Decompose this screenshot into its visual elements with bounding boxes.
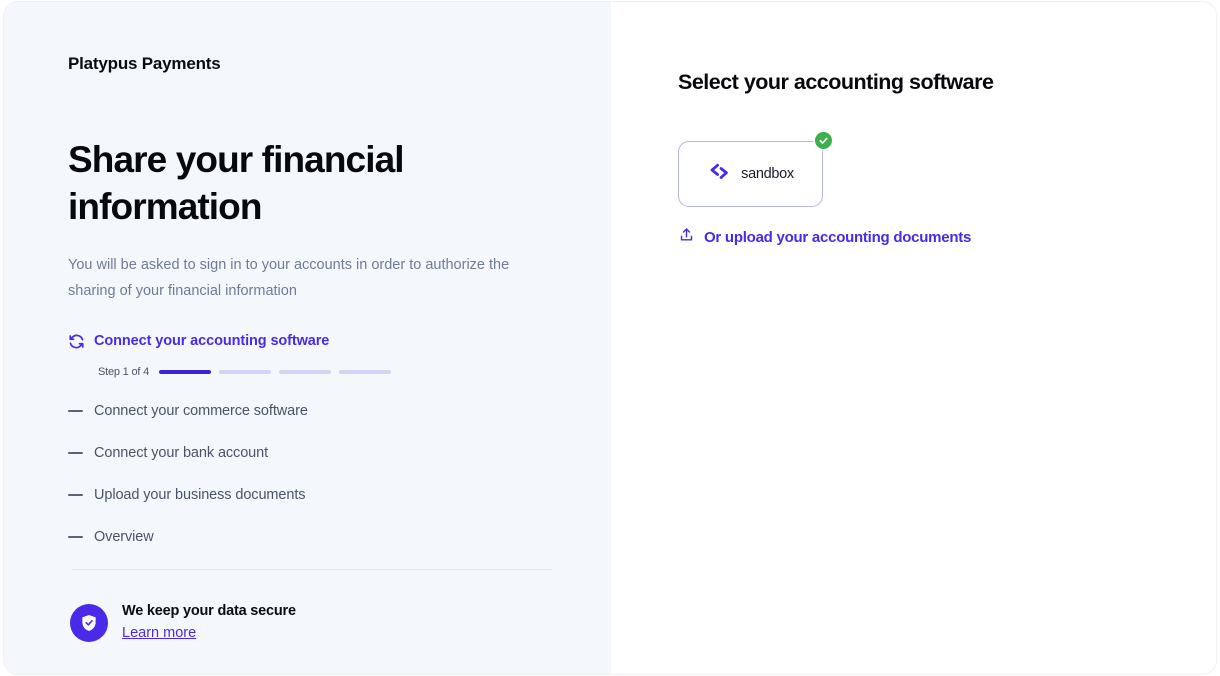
dash-icon [68, 410, 94, 412]
progress-label: Step 1 of 4 [98, 366, 149, 378]
upload-documents-link[interactable]: Or upload your accounting documents [678, 226, 971, 248]
step-item-bank[interactable]: Connect your bank account [68, 440, 558, 466]
page-headline: Share your financial information [68, 136, 498, 230]
data-security-notice: We keep your data secure Learn more [70, 603, 296, 642]
upload-icon [678, 226, 695, 248]
step-label-accounting: Connect your accounting software [94, 333, 329, 349]
step-item-accounting[interactable]: Connect your accounting software [68, 328, 558, 354]
sandbox-chevrons-logo [707, 159, 732, 189]
progress-segment-3 [279, 370, 331, 375]
brand-title: Platypus Payments [68, 54, 221, 74]
step-progress: Step 1 of 4 [98, 366, 558, 378]
green-check-badge-icon [815, 132, 832, 149]
progress-segment-4 [339, 370, 391, 375]
step-item-documents[interactable]: Upload your business documents [68, 482, 558, 508]
software-name-label: sandbox [741, 166, 794, 182]
progress-segment-1 [159, 370, 211, 375]
left-info-panel: Platypus Payments Share your financial i… [4, 2, 611, 674]
step-list: Connect your accounting software Step 1 … [68, 328, 558, 566]
step-label-documents: Upload your business documents [94, 487, 305, 503]
step-label-bank: Connect your bank account [94, 445, 268, 461]
software-option-sandbox[interactable]: sandbox [678, 141, 823, 207]
learn-more-link[interactable]: Learn more [122, 625, 196, 641]
secure-title: We keep your data secure [122, 603, 296, 619]
step-item-commerce[interactable]: Connect your commerce software [68, 398, 558, 424]
progress-segment-2 [219, 370, 271, 375]
right-selection-panel: Select your accounting software sandbox [611, 2, 1216, 674]
upload-link-label: Or upload your accounting documents [704, 229, 971, 246]
step-label-overview: Overview [94, 529, 154, 545]
app-window: Platypus Payments Share your financial i… [0, 0, 1220, 676]
dash-icon [68, 494, 94, 496]
step-label-commerce: Connect your commerce software [94, 403, 308, 419]
page-subtext: You will be asked to sign in to your acc… [68, 252, 553, 304]
section-divider [72, 569, 552, 570]
step-item-overview[interactable]: Overview [68, 524, 558, 550]
shield-check-icon [70, 604, 108, 642]
selection-title: Select your accounting software [678, 70, 993, 95]
refresh-icon [68, 333, 94, 350]
dash-icon [68, 452, 94, 454]
onboarding-card: Platypus Payments Share your financial i… [4, 2, 1216, 674]
dash-icon [68, 536, 94, 538]
